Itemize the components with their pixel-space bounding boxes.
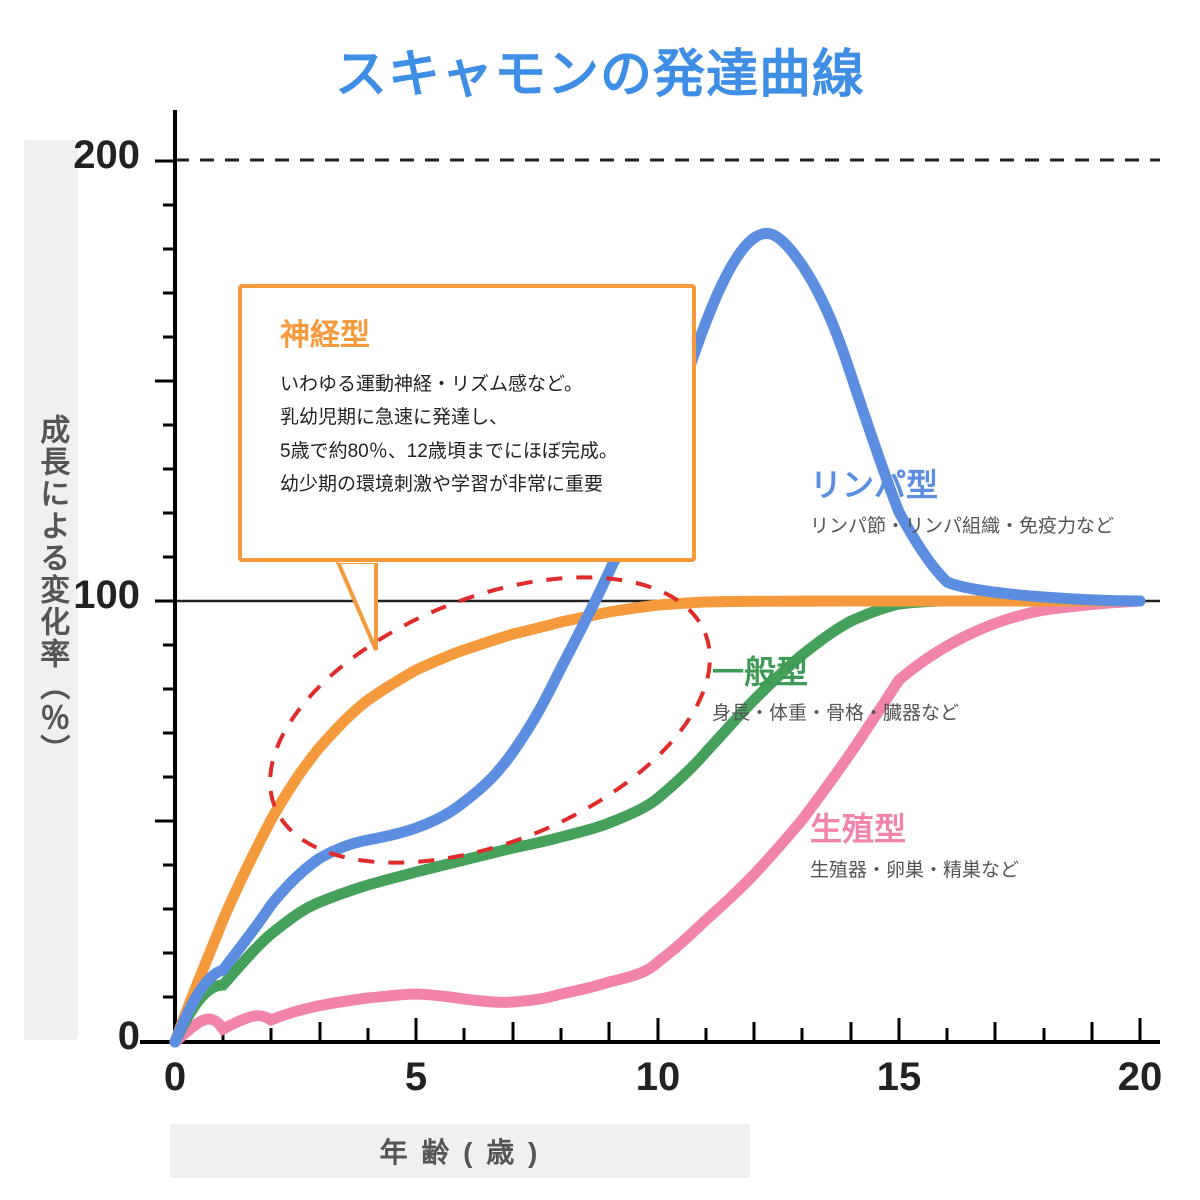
x-tick-label-0: 0 xyxy=(135,1055,215,1100)
x-axis-ticks xyxy=(223,1018,1140,1042)
chart-page: スキャモンの発達曲線 成長による変化率（％） 年 齢 ( 歳 ) xyxy=(0,0,1200,1200)
series-label-general: 一般型 身長・体重・骨格・臓器など xyxy=(712,655,959,725)
highlight-ellipse xyxy=(229,520,751,920)
series-label-general-desc: 身長・体重・骨格・臓器など xyxy=(712,698,959,725)
series-label-genital-desc: 生殖器・卵巣・精巣など xyxy=(810,855,1019,882)
series-label-genital-name: 生殖型 xyxy=(810,812,1019,847)
x-tick-label-15: 15 xyxy=(849,1055,949,1100)
y-tick-label-200: 200 xyxy=(20,133,140,178)
callout-tail-icon xyxy=(338,562,376,650)
x-tick-label-20: 20 xyxy=(1090,1055,1190,1100)
x-tick-label-10: 10 xyxy=(608,1055,708,1100)
callout-neural: 神経型 いわゆる運動神経・リズム感など。 乳幼児期に急速に発達し、 5歳で約80… xyxy=(238,284,696,562)
y-axis-ticks xyxy=(155,161,175,997)
callout-line-2: 乳幼児期に急速に発達し、 xyxy=(280,401,692,434)
chart-plot xyxy=(0,0,1200,1200)
series-label-lymph: リンパ型 リンパ節・リンパ組織・免疫力など xyxy=(810,468,1114,538)
x-tick-label-5: 5 xyxy=(376,1055,456,1100)
callout-line-3: 5歳で約80％、12歳頃までにほぼ完成。 xyxy=(280,435,692,468)
series-label-lymph-name: リンパ型 xyxy=(810,468,1114,503)
series-label-general-name: 一般型 xyxy=(712,655,959,690)
callout-line-1: いわゆる運動神経・リズム感など。 xyxy=(280,368,692,401)
y-tick-label-0: 0 xyxy=(60,1014,140,1059)
series-label-genital: 生殖型 生殖器・卵巣・精巣など xyxy=(810,812,1019,882)
callout-title: 神経型 xyxy=(280,310,692,354)
series-label-lymph-desc: リンパ節・リンパ組織・免疫力など xyxy=(810,511,1114,538)
y-tick-label-100: 100 xyxy=(20,573,140,618)
callout-line-4: 幼少期の環境刺激や学習が非常に重要 xyxy=(280,468,692,501)
